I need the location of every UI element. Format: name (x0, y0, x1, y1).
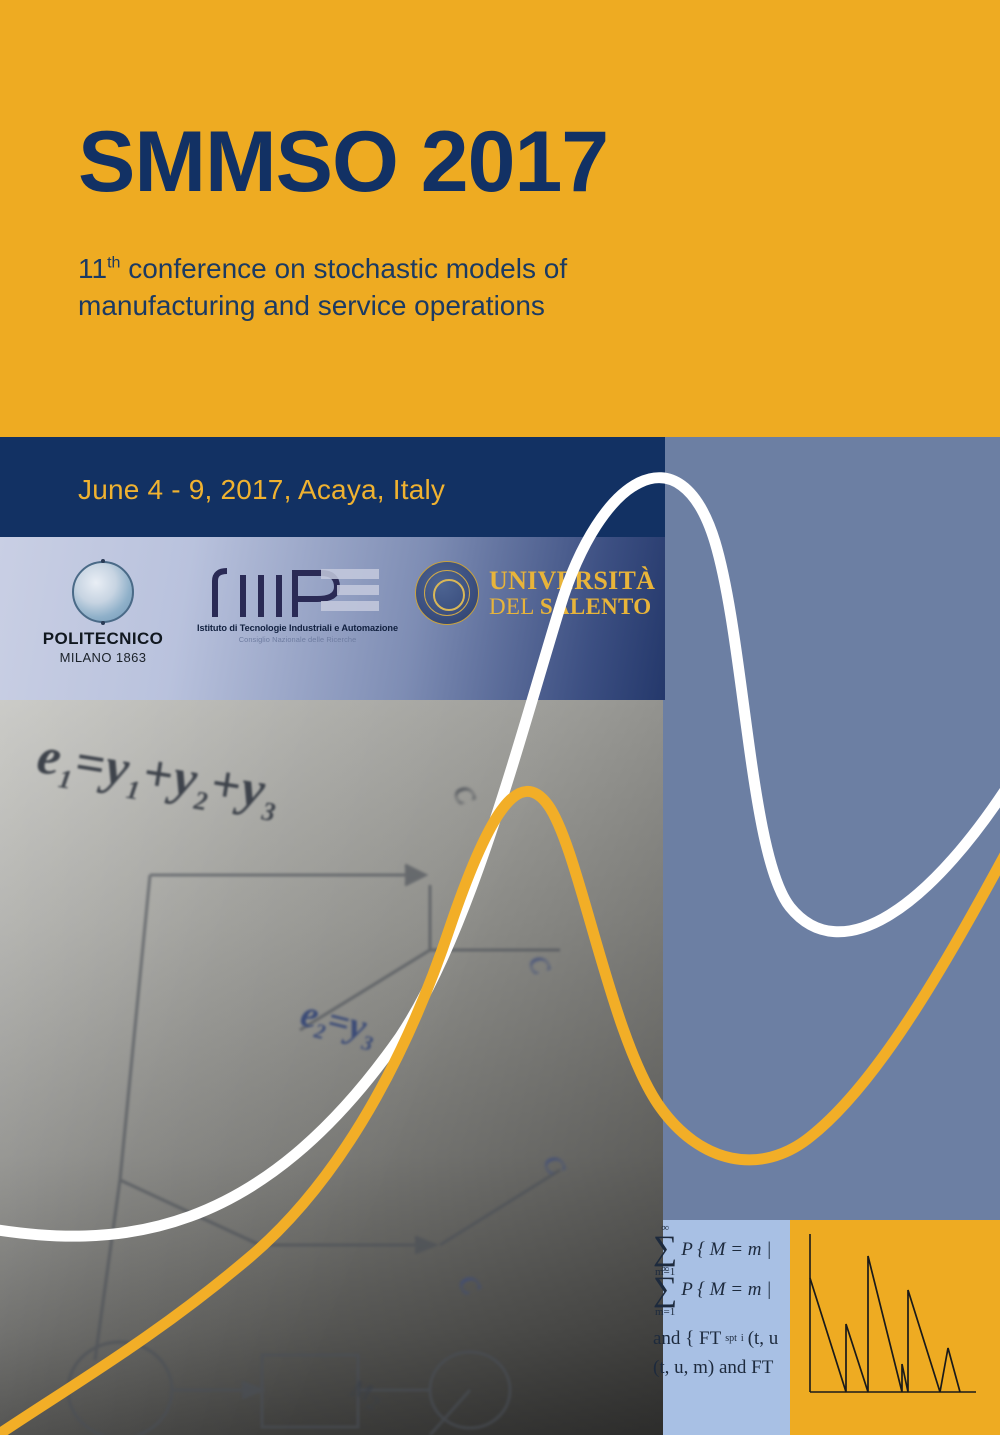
sum2-glyph: ∑ (653, 1271, 677, 1308)
sawtooth-chart (790, 1220, 1000, 1435)
whiteboard-photo: e1=y1+y2+y3 e2=y3 C C C C M2 (0, 700, 663, 1435)
eq1-eq: =y (71, 733, 134, 798)
formula-body-4: (t, u, m) and FT (653, 1358, 773, 1377)
salento-line2: DEL SALENTO (489, 595, 655, 618)
salento-line1: UNIVERSITÀ (489, 568, 655, 595)
date-location-text: June 4 - 9, 2017, Acaya, Italy (78, 474, 445, 506)
formula-body-2: P { M = m | (681, 1280, 771, 1299)
summation-icon-1: ∞ ∑ m=1 (653, 1234, 677, 1265)
itia-cnr-name: Consiglio Nazionale delle Ricerche (190, 635, 405, 644)
sum2-lower: m=1 (655, 1307, 675, 1318)
eq1-p1: +y (139, 744, 202, 809)
politecnico-subtitle: MILANO 1863 (24, 650, 182, 665)
sum2-upper: ∞ (661, 1264, 669, 1275)
salento-seal-ring (433, 579, 465, 611)
subtitle-text: conference on stochastic models of manuf… (78, 253, 567, 321)
politecnico-seal-icon (72, 561, 134, 623)
salento-del: DEL (489, 594, 540, 619)
formula-3-sub: i (741, 1334, 744, 1344)
header-band: SMMSO 2017 11th conference on stochastic… (0, 0, 1000, 437)
logo-universita-del-salento: UNIVERSITÀ DEL SALENTO (415, 561, 655, 625)
sum1-upper: ∞ (661, 1223, 669, 1234)
conference-poster: SMMSO 2017 11th conference on stochastic… (0, 0, 1000, 1435)
formula-body-1: P { M = m | (681, 1240, 771, 1259)
salento-salento: SALENTO (540, 594, 652, 619)
salento-seal-icon (415, 561, 479, 625)
page-title: SMMSO 2017 (78, 119, 608, 205)
logo-politecnico-milano: POLITECNICO MILANO 1863 (24, 561, 182, 665)
page-subtitle: 11th conference on stochastic models of … (78, 250, 698, 324)
salento-wordmark: UNIVERSITÀ DEL SALENTO (489, 568, 655, 618)
politecnico-name: POLITECNICO (24, 629, 182, 649)
sponsor-logo-band: POLITECNICO MILANO 1863 (0, 537, 665, 700)
formula-body-3: and { FT (653, 1329, 721, 1348)
sum1-glyph: ∑ (653, 1230, 677, 1267)
sawtooth-chart-box (790, 1220, 1000, 1435)
formula-3-rest: (t, u (748, 1329, 779, 1348)
formula-3-sup: spt (725, 1334, 737, 1344)
itia-institute-name: Istituto di Tecnologie Industriali e Aut… (190, 623, 405, 633)
logo-itia-cnr: Istituto di Tecnologie Industriali e Aut… (190, 567, 405, 644)
chart-series-line (810, 1256, 960, 1392)
summation-icon-2: ∞ ∑ m=1 (653, 1275, 677, 1306)
subtitle-ordinal: th (107, 255, 120, 272)
itia-logo-icon (190, 567, 405, 619)
eq1-p2: +y (207, 755, 270, 820)
subtitle-number: 11 (78, 253, 107, 284)
whiteboard-diagram-icon (0, 700, 663, 1435)
